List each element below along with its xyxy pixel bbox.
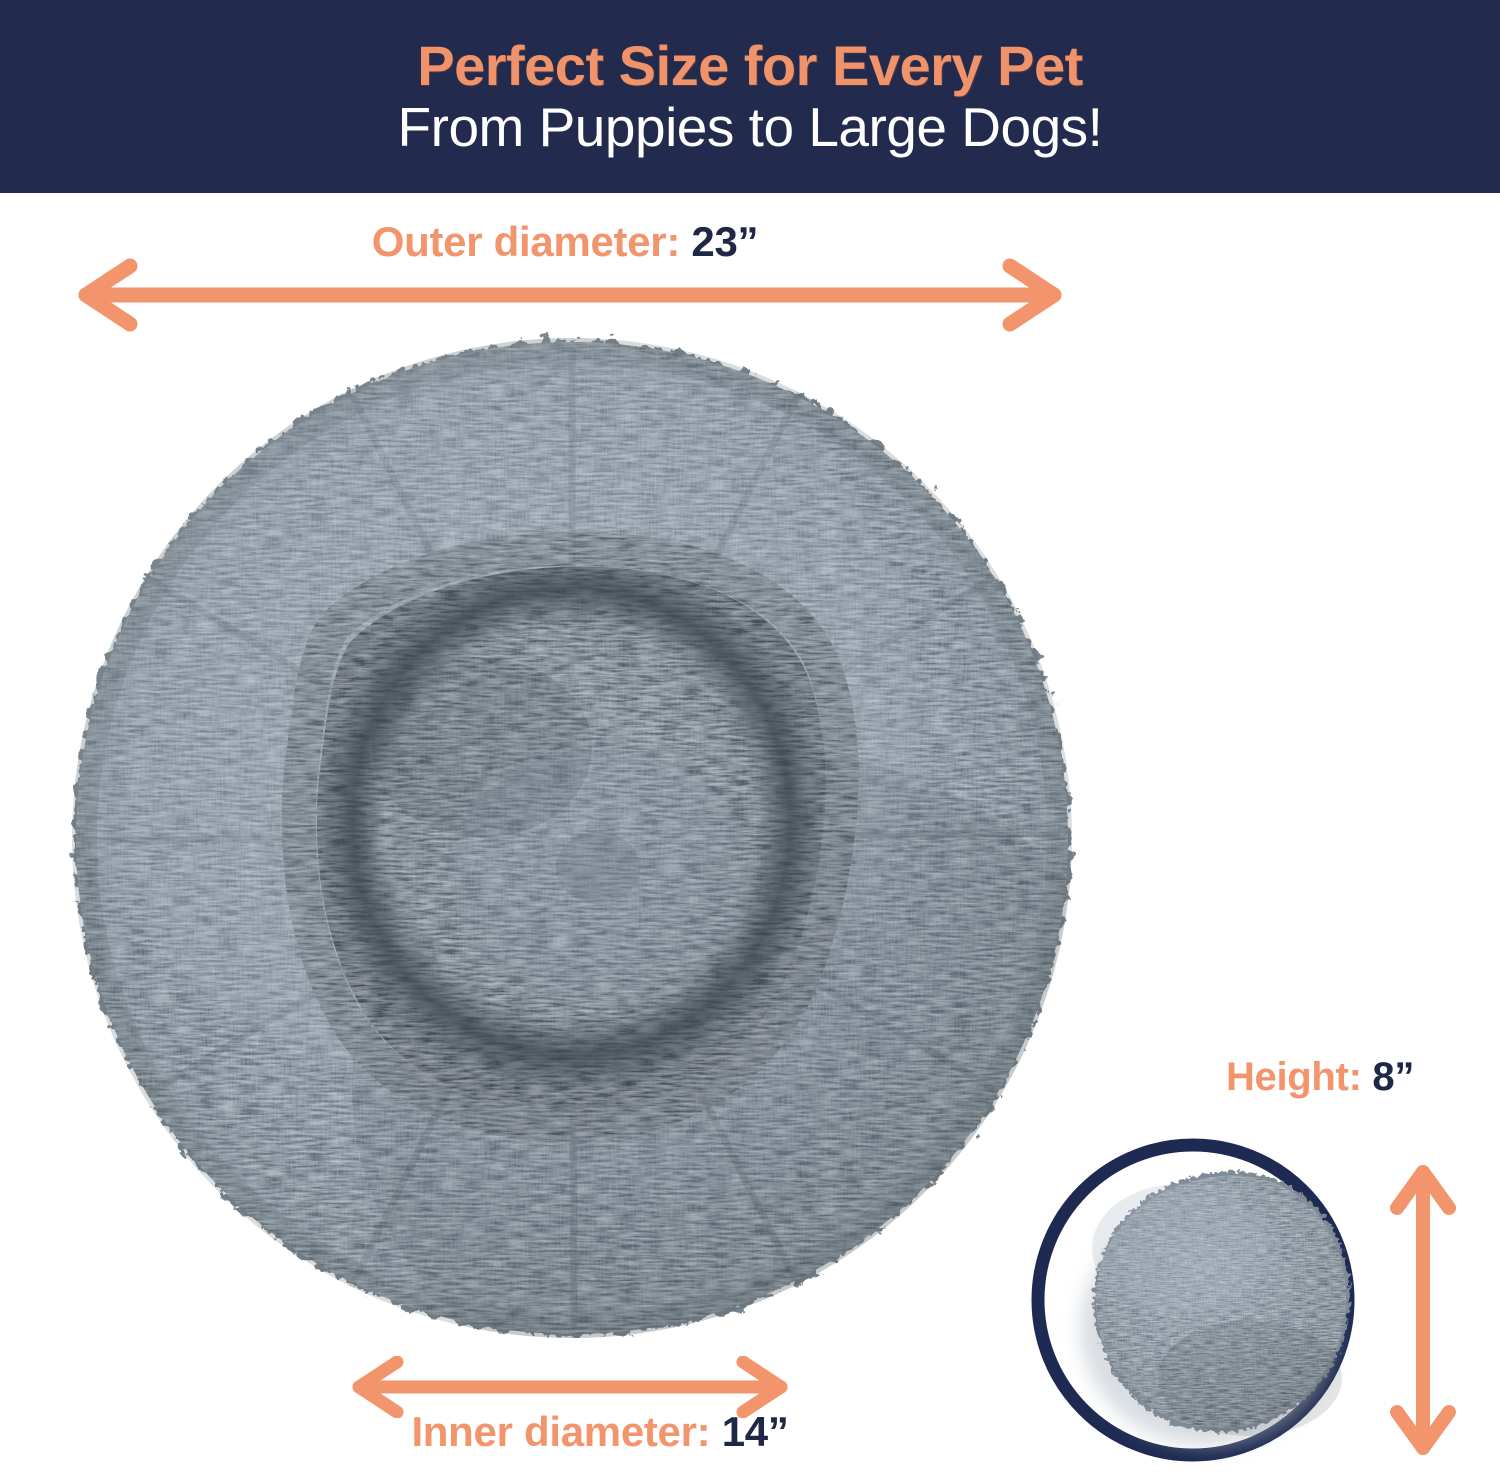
header-banner: Perfect Size for Every Pet From Puppies … bbox=[0, 0, 1500, 193]
page-title: Perfect Size for Every Pet bbox=[417, 38, 1083, 94]
pet-bed-height-inset bbox=[1030, 1128, 1370, 1475]
height-label: Height: 8” bbox=[1155, 1055, 1485, 1100]
inner-diameter-value: 14” bbox=[722, 1408, 789, 1455]
height-value: 8” bbox=[1372, 1055, 1414, 1099]
page-subtitle: From Puppies to Large Dogs! bbox=[398, 100, 1103, 155]
pet-bed-main-image bbox=[62, 328, 1082, 1348]
inner-diameter-label: Inner diameter: 14” bbox=[300, 1408, 900, 1456]
inner-diameter-label-text: Inner diameter: bbox=[411, 1408, 721, 1455]
height-arrow-icon bbox=[1385, 1150, 1461, 1470]
height-label-text: Height: bbox=[1226, 1055, 1372, 1099]
bed-inner-cushion bbox=[317, 567, 826, 1110]
outer-diameter-arrow-icon bbox=[60, 258, 1080, 332]
